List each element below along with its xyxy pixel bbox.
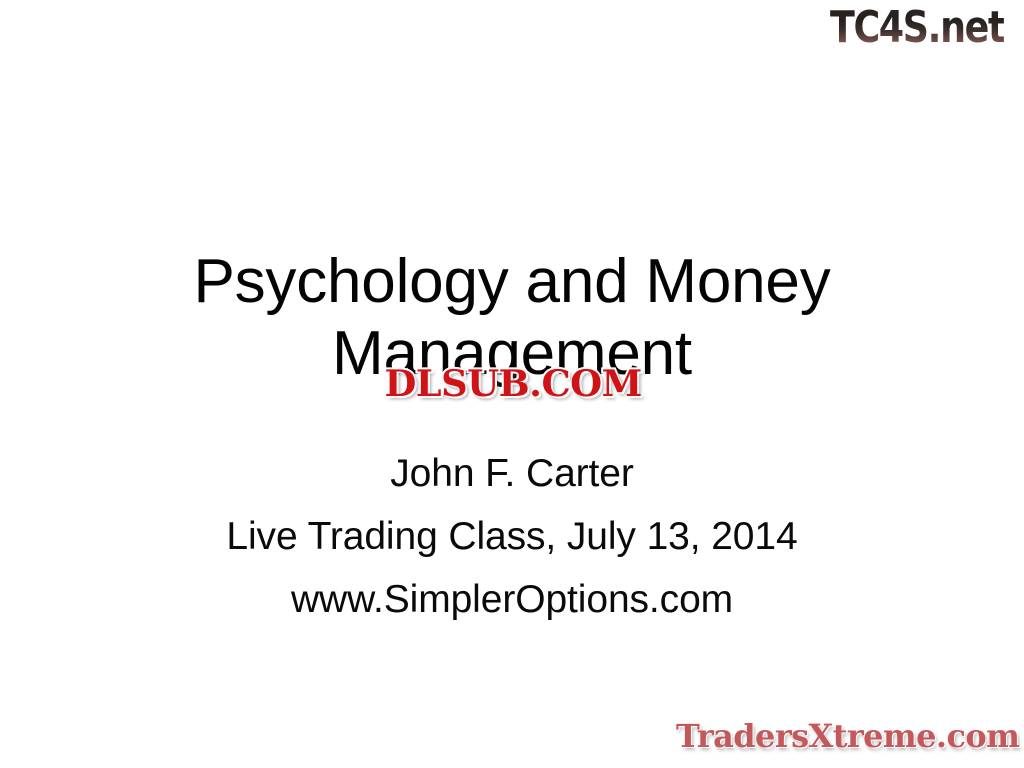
tradersxtreme-watermark: TradersXtreme.com bbox=[676, 712, 1020, 760]
presentation-slide: TC4S.net Psychology and Money Management… bbox=[0, 0, 1024, 768]
subtitle-presenter-name: John F. Carter bbox=[112, 442, 912, 505]
tc4s-watermark-text: TC4S.net bbox=[830, 5, 1004, 51]
tradersxtreme-watermark-text: TradersXtreme.com bbox=[676, 718, 1019, 754]
subtitle-class-date: Live Trading Class, July 13, 2014 bbox=[112, 505, 912, 568]
tc4s-watermark-logo: TC4S.net bbox=[830, 0, 1024, 56]
subtitle-website: www.SimplerOptions.com bbox=[112, 568, 912, 631]
slide-subtitle: John F. Carter Live Trading Class, July … bbox=[112, 442, 912, 631]
slide-title-line-1: Psychology and Money bbox=[112, 246, 912, 318]
dlsub-watermark: DLSUB.COM bbox=[368, 362, 658, 406]
dlsub-watermark-text: DLSUB.COM bbox=[384, 365, 641, 403]
